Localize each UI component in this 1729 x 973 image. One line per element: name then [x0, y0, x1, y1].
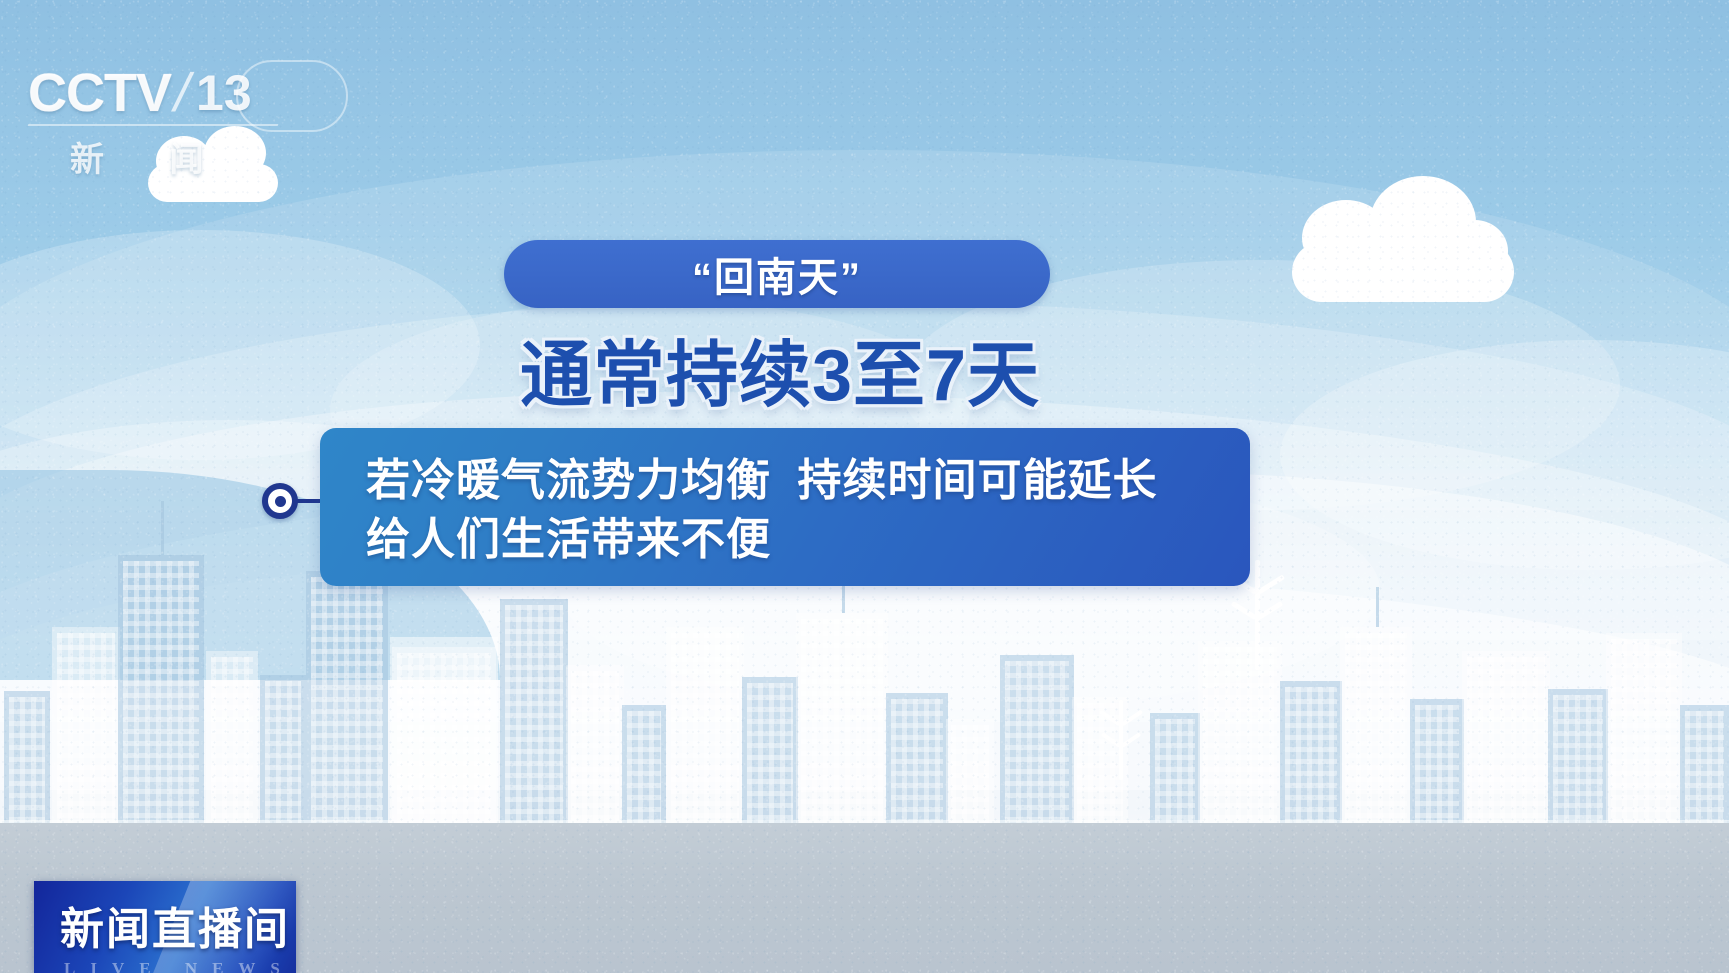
info-box: 若冷暖气流势力均衡 持续时间可能延长 给人们生活带来不便: [320, 428, 1250, 586]
headline-badge: “回南天”: [504, 240, 1050, 308]
channel-number-oval-icon: [236, 60, 348, 132]
broadcast-graphic-stage: CCTV / 13 新 闻 “回南天” 通常持续3至7天 若冷暖气流势力均衡 持…: [0, 0, 1729, 973]
channel-logo-rule: [28, 124, 279, 126]
info-box-line-2: 给人们生活带来不便: [366, 511, 1250, 570]
headline-badge-label: “回南天”: [692, 245, 862, 303]
bullet-marker-icon: [262, 483, 298, 519]
program-banner: 新闻直播间 LIVE NEWS: [34, 881, 296, 973]
channel-network-text: CCTV: [28, 66, 171, 120]
program-banner-title: 新闻直播间: [34, 881, 296, 957]
cloud-icon-right: [1292, 198, 1514, 302]
page-title: 通常持续3至7天: [0, 316, 1560, 421]
info-box-line-1: 若冷暖气流势力均衡 持续时间可能延长: [366, 452, 1250, 511]
program-banner-subtitle: LIVE NEWS: [34, 959, 296, 973]
channel-subtitle-text: 新 闻: [28, 132, 278, 181]
channel-logo: CCTV / 13 新 闻: [28, 66, 278, 181]
channel-logo-row: CCTV / 13: [28, 66, 278, 120]
